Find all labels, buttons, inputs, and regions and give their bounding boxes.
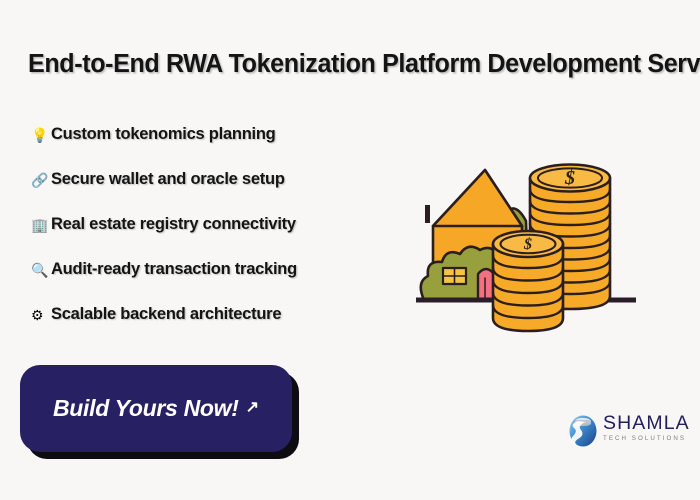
link-icon: 🔗: [31, 173, 51, 187]
house-and-coin-stacks-illustration: $ $: [410, 148, 642, 340]
feature-label: Scalable backend architecture: [51, 305, 281, 324]
lightbulb-icon: 💡: [31, 128, 51, 142]
promo-banner: End-to-End RWA Tokenization Platform Dev…: [0, 0, 700, 500]
logo-text-block: SHAMLA TECH SOLUTIONS: [603, 414, 690, 443]
feature-list: 💡 Custom tokenomics planning 🔗 Secure wa…: [31, 112, 391, 337]
office-building-icon: 🏢: [31, 218, 51, 232]
list-item: ⚙ Scalable backend architecture: [31, 292, 391, 337]
front-coin-stack: $: [493, 231, 563, 331]
feature-label: Secure wallet and oracle setup: [51, 170, 285, 189]
arrow-up-right-icon: ↗: [246, 397, 259, 417]
feature-label: Custom tokenomics planning: [51, 125, 276, 144]
feature-label: Audit-ready transaction tracking: [51, 260, 297, 279]
list-item: 🏢 Real estate registry connectivity: [31, 202, 391, 247]
magnifying-glass-icon: 🔍: [31, 263, 51, 277]
feature-label: Real estate registry connectivity: [51, 215, 296, 234]
shamla-tech-logo: SHAMLA TECH SOLUTIONS: [566, 406, 690, 450]
cta-label: Build Yours Now!: [53, 395, 239, 422]
cta-container: Build Yours Now! ↗: [20, 365, 292, 452]
build-yours-now-button[interactable]: Build Yours Now! ↗: [20, 365, 292, 452]
logo-name: SHAMLA: [603, 414, 690, 434]
list-item: 🔗 Secure wallet and oracle setup: [31, 157, 391, 202]
house-door: [478, 269, 494, 300]
house-roof: [433, 170, 522, 226]
page-title: End-to-End RWA Tokenization Platform Dev…: [28, 50, 658, 79]
illustration-svg: $ $: [410, 148, 642, 340]
list-item: 💡 Custom tokenomics planning: [31, 112, 391, 157]
logo-tagline: TECH SOLUTIONS: [603, 436, 690, 442]
list-item: 🔍 Audit-ready transaction tracking: [31, 247, 391, 292]
coin-dollar-symbol: $: [523, 236, 532, 253]
coin-dollar-symbol: $: [564, 167, 575, 189]
gear-icon: ⚙: [31, 308, 51, 322]
sphere-s-icon: [566, 408, 600, 448]
